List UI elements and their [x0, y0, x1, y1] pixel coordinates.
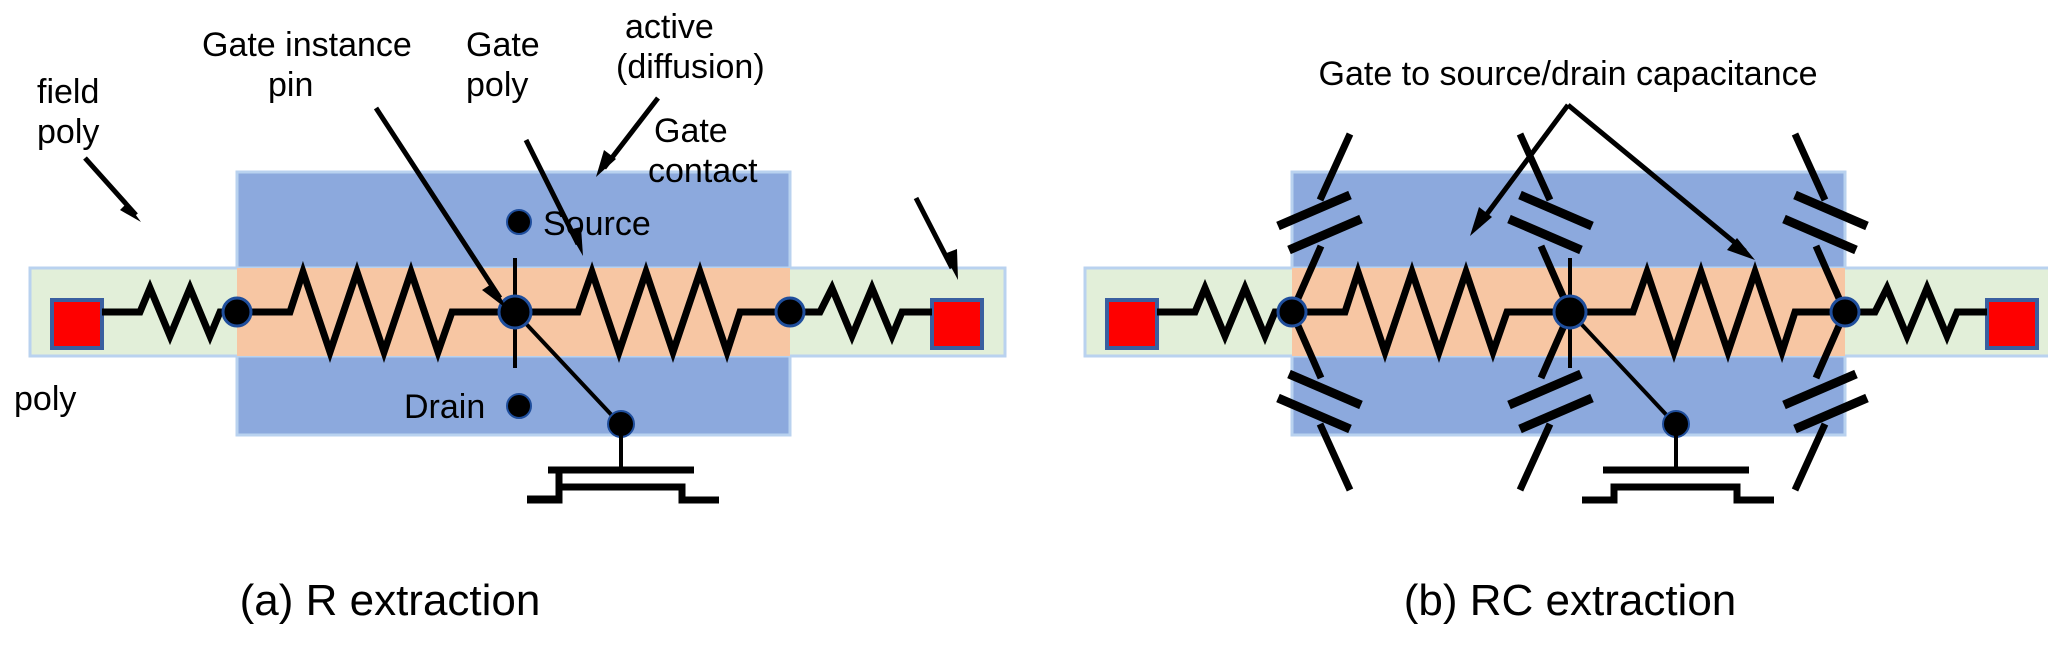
poly-node-right-a: [776, 298, 804, 326]
poly-contact-left-b: [1107, 300, 1157, 348]
poly-node-left-b: [1278, 298, 1306, 326]
poly-node-left-a: [223, 298, 251, 326]
figure-root: field poly Gate instance pin Gate poly a…: [0, 0, 2048, 662]
label-gate-to-sd-capacitance: Gate to source/drain capacitance: [1319, 55, 1818, 93]
label-field-poly-line2: poly: [37, 113, 99, 151]
label-active-line2: (diffusion): [616, 48, 765, 86]
label-field-poly-line1: field: [37, 73, 99, 111]
label-drain-a: Drain: [404, 388, 485, 426]
transistor-channel-a: [527, 470, 559, 499]
gate-instance-pin-node-b: [1554, 296, 1586, 328]
label-poly-a: poly: [14, 380, 76, 418]
transistor-body-b: [1582, 487, 1774, 500]
label-gate-poly-line2: poly: [466, 66, 528, 104]
label-source-a: Source: [543, 205, 651, 243]
poly-contact-left-a: [52, 300, 102, 348]
gate-contact-right-a: [932, 300, 982, 348]
drain-node-dot-a: [507, 394, 531, 418]
label-gate-instance-pin-line1: Gate instance: [202, 26, 412, 64]
figure-svg: field poly Gate instance pin Gate poly a…: [0, 0, 2048, 662]
gate-instance-pin-node-a: [499, 296, 531, 328]
label-gate-contact-line1: Gate: [654, 112, 728, 150]
panel-a-group: field poly Gate instance pin Gate poly a…: [14, 8, 1005, 625]
caption-panel-b: (b) RC extraction: [1404, 576, 1737, 625]
label-gate-instance-pin-line2: pin: [268, 66, 313, 104]
label-gate-poly-line1: Gate: [466, 26, 540, 64]
caption-panel-a: (a) R extraction: [240, 576, 541, 625]
panel-b-group: Gate to source/drain capacitance (b) RC …: [1085, 55, 2048, 625]
poly-node-right-b: [1831, 298, 1859, 326]
label-gate-contact-line2: contact: [648, 152, 758, 190]
label-active-line1: active: [625, 8, 714, 46]
source-node-dot-a: [507, 210, 531, 234]
gate-contact-right-b: [1987, 300, 2037, 348]
